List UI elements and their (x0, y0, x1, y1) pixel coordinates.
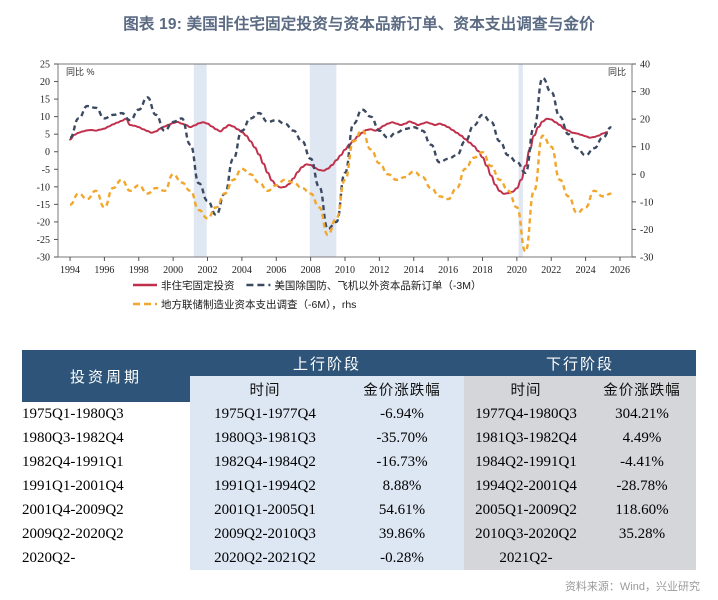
x-tick-label: 2004 (232, 265, 252, 276)
cell-up-time: 1980Q3-1981Q3 (190, 426, 340, 450)
cell-down-pct: 118.60% (588, 498, 696, 522)
chart-figure: 2520151050-5-10-15-20-25-30403020100-10-… (0, 52, 718, 332)
cell-down-pct (588, 546, 696, 570)
x-tick-label: 2024 (576, 265, 596, 276)
right-tick-label: 30 (640, 87, 650, 98)
cell-up-time: 2009Q2-2010Q3 (190, 522, 340, 546)
right-tick-label: -20 (640, 225, 653, 236)
x-tick-label: 2008 (301, 265, 321, 276)
left-tick-label: 25 (40, 60, 50, 71)
cell-up-pct: -0.28% (340, 546, 464, 570)
recession-band-0 (194, 64, 207, 257)
table-row: 2009Q2-2020Q22009Q2-2010Q339.86%2010Q3-2… (22, 522, 696, 546)
left-tick-label: 20 (40, 77, 50, 88)
table-row: 2020Q2-2020Q2-2021Q2-0.28%2021Q2- (22, 546, 696, 570)
cell-up-time: 1975Q1-1977Q4 (190, 402, 340, 426)
cell-up-pct: -35.70% (340, 426, 464, 450)
header-down-phase: 下行阶段 (464, 350, 696, 376)
header-up-pct: 金价涨跌幅 (340, 376, 464, 402)
cell-up-time: 2020Q2-2021Q2 (190, 546, 340, 570)
cell-down-time: 1984Q2-1991Q1 (464, 450, 588, 474)
left-tick-label: 10 (40, 112, 50, 123)
legend-label-2: 地方联储制造业资本支出调查（-6M），rhs (161, 298, 356, 311)
cell-up-time: 1982Q4-1984Q2 (190, 450, 340, 474)
left-tick-label: -15 (37, 200, 50, 211)
cell-down-pct: 304.21% (588, 402, 696, 426)
x-tick-label: 1998 (129, 265, 149, 276)
cell-up-pct: -6.94% (340, 402, 464, 426)
x-tick-label: 2020 (507, 265, 527, 276)
cell-cycle: 2020Q2- (22, 546, 190, 570)
right-tick-label: 0 (640, 170, 645, 181)
legend-label-0: 非住宅固定投资 (161, 279, 235, 292)
table-header-row-groups: 投资周期 上行阶段 下行阶段 (22, 350, 696, 376)
cell-down-time: 2010Q3-2020Q2 (464, 522, 588, 546)
cell-down-pct: -28.78% (588, 474, 696, 498)
plot-frame (58, 64, 632, 257)
page-title: 图表 19: 美国非住宅固定投资与资本品新订单、资本支出调查与金价 (0, 12, 718, 34)
header-cycle: 投资周期 (22, 350, 190, 402)
right-tick-label: -30 (640, 253, 653, 264)
left-tick-label: -30 (37, 253, 50, 264)
x-tick-label: 2006 (266, 265, 286, 276)
table-body: 1975Q1-1980Q31975Q1-1977Q4-6.94%1977Q4-1… (22, 402, 696, 570)
header-down-pct: 金价涨跌幅 (588, 376, 696, 402)
x-tick-label: 2026 (610, 265, 630, 276)
x-tick-label: 2002 (198, 265, 218, 276)
left-tick-label: -10 (37, 182, 50, 193)
right-tick-label: -10 (640, 197, 653, 208)
cell-down-time: 2005Q1-2009Q2 (464, 498, 588, 522)
cell-cycle: 1991Q1-2001Q4 (22, 474, 190, 498)
right-tick-label: 40 (640, 60, 650, 71)
right-tick-label: 10 (640, 142, 650, 153)
header-down-time: 时间 (464, 376, 588, 402)
cell-up-time: 2001Q1-2005Q1 (190, 498, 340, 522)
table-row: 1982Q4-1991Q11982Q4-1984Q2-16.73%1984Q2-… (22, 450, 696, 474)
cell-down-time: 1981Q3-1982Q4 (464, 426, 588, 450)
cell-cycle: 2009Q2-2020Q2 (22, 522, 190, 546)
cell-up-pct: 54.61% (340, 498, 464, 522)
table-row: 1975Q1-1980Q31975Q1-1977Q4-6.94%1977Q4-1… (22, 402, 696, 426)
cell-cycle: 2001Q4-2009Q2 (22, 498, 190, 522)
left-tick-label: -25 (37, 235, 50, 246)
x-tick-label: 2016 (438, 265, 458, 276)
x-tick-label: 2022 (541, 265, 561, 276)
table-row: 2001Q4-2009Q22001Q1-2005Q154.61%2005Q1-2… (22, 498, 696, 522)
cell-down-time: 1977Q4-1980Q3 (464, 402, 588, 426)
cell-down-pct: 4.49% (588, 426, 696, 450)
chart-svg: 2520151050-5-10-15-20-25-30403020100-10-… (0, 52, 718, 332)
cell-down-pct: 35.28% (588, 522, 696, 546)
cell-cycle: 1975Q1-1980Q3 (22, 402, 190, 426)
header-up-phase: 上行阶段 (190, 350, 464, 376)
left-tick-label: -5 (42, 165, 50, 176)
cell-cycle: 1982Q4-1991Q1 (22, 450, 190, 474)
left-tick-label: 5 (45, 130, 50, 141)
cell-up-pct: -16.73% (340, 450, 464, 474)
table-row: 1991Q1-2001Q41991Q1-1994Q28.88%1994Q2-20… (22, 474, 696, 498)
x-tick-label: 1994 (60, 265, 80, 276)
right-tick-label: 20 (640, 115, 650, 126)
x-tick-label: 2010 (335, 265, 355, 276)
x-tick-label: 2014 (404, 265, 424, 276)
legend-label-1: 美国除国防、飞机以外资本品新订单（-3M） (274, 279, 481, 292)
table-row: 1980Q3-1982Q41980Q3-1981Q3-35.70%1981Q3-… (22, 426, 696, 450)
left-tick-label: 0 (45, 147, 50, 158)
left-axis-label: 同比 % (66, 66, 95, 77)
cell-up-pct: 8.88% (340, 474, 464, 498)
cell-up-time: 1991Q1-1994Q2 (190, 474, 340, 498)
left-tick-label: -20 (37, 217, 50, 228)
left-tick-label: 15 (40, 95, 50, 106)
cell-down-time: 2021Q2- (464, 546, 588, 570)
cell-up-pct: 39.86% (340, 522, 464, 546)
cell-down-pct: -4.41% (588, 450, 696, 474)
x-tick-label: 2018 (472, 265, 492, 276)
x-tick-label: 2012 (369, 265, 389, 276)
right-axis-label: 同比 (608, 66, 626, 77)
source-note: 资料来源：Wind，兴业研究 (565, 578, 700, 594)
header-up-time: 时间 (190, 376, 340, 402)
cell-cycle: 1980Q3-1982Q4 (22, 426, 190, 450)
investment-cycle-table: 投资周期 上行阶段 下行阶段 时间 金价涨跌幅 时间 金价涨跌幅 1975Q1-… (22, 350, 696, 570)
x-tick-label: 1996 (94, 265, 114, 276)
x-tick-label: 2000 (163, 265, 183, 276)
cell-down-time: 1994Q2-2001Q4 (464, 474, 588, 498)
series-line-0 (70, 119, 607, 194)
